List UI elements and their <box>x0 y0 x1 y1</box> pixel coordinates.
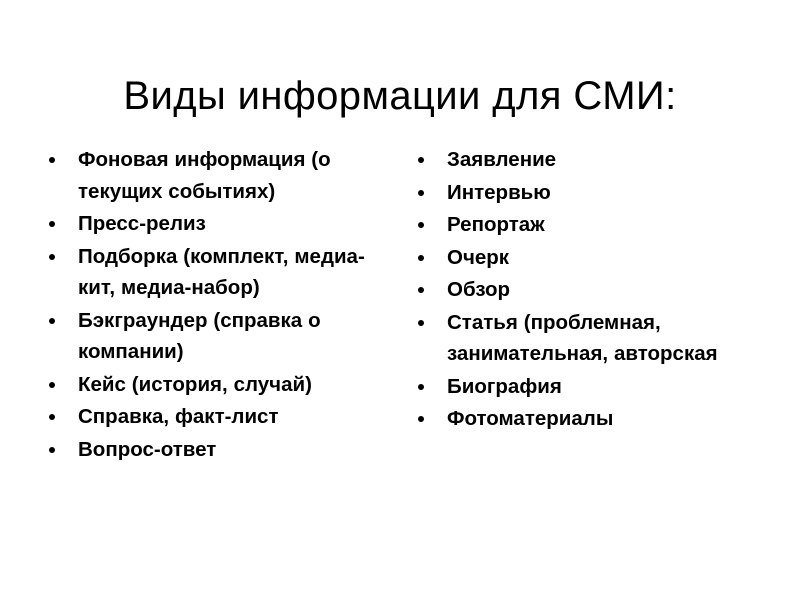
list-item-label: Справка, факт-лист <box>78 401 394 433</box>
bullet-column-right: Заявление Интервью Репортаж Очерк Обзор <box>410 144 770 436</box>
list-item: Фотоматериалы <box>410 403 770 435</box>
bullet-list-left: Фоновая информация (о текущих событиях) … <box>42 144 394 465</box>
list-item: Статья (проблемная, занимательная, автор… <box>410 307 770 370</box>
bullet-dot-icon <box>49 157 55 163</box>
list-item: Бэкграундер (справка о компании) <box>42 305 394 368</box>
bullet-dot-icon <box>49 221 55 227</box>
list-item: Кейс (история, случай) <box>42 369 394 401</box>
bullet-dot-icon <box>49 254 55 260</box>
bullet-dot-icon <box>418 190 424 196</box>
content-columns: Фоновая информация (о текущих событиях) … <box>0 144 800 524</box>
bullet-dot-icon <box>418 157 424 163</box>
bullet-dot-icon <box>418 222 424 228</box>
list-item: Справка, факт-лист <box>42 401 394 433</box>
list-item-label: Интервью <box>447 177 770 209</box>
bullet-dot-icon <box>418 384 424 390</box>
list-item-label: Вопрос-ответ <box>78 434 394 466</box>
bullet-dot-icon <box>418 320 424 326</box>
bullet-dot-icon <box>49 447 55 453</box>
page-title: Виды информации для СМИ: <box>0 73 800 119</box>
list-item-label: Биография <box>447 371 770 403</box>
list-item: Фоновая информация (о текущих событиях) <box>42 144 394 207</box>
list-item: Подборка (комплект, медиа-кит, медиа-наб… <box>42 241 394 304</box>
list-item: Репортаж <box>410 209 770 241</box>
list-item: Вопрос-ответ <box>42 434 394 466</box>
bullet-dot-icon <box>418 416 424 422</box>
list-item: Интервью <box>410 177 770 209</box>
bullet-list-right: Заявление Интервью Репортаж Очерк Обзор <box>410 144 770 435</box>
list-item-label: Заявление <box>447 144 770 176</box>
bullet-dot-icon <box>49 318 55 324</box>
bullet-column-left: Фоновая информация (о текущих событиях) … <box>42 144 394 466</box>
list-item-label: Пресс-релиз <box>78 208 394 240</box>
list-item-label: Бэкграундер (справка о компании) <box>78 305 394 368</box>
list-item-label: Фотоматериалы <box>447 403 770 435</box>
list-item-label: Статья (проблемная, занимательная, автор… <box>447 307 770 370</box>
bullet-dot-icon <box>49 382 55 388</box>
list-item: Заявление <box>410 144 770 176</box>
list-item: Обзор <box>410 274 770 306</box>
list-item-label: Репортаж <box>447 209 770 241</box>
list-item-label: Очерк <box>447 242 770 274</box>
list-item-label: Обзор <box>447 274 770 306</box>
list-item-label: Фоновая информация (о текущих событиях) <box>78 144 394 207</box>
bullet-dot-icon <box>418 287 424 293</box>
list-item: Очерк <box>410 242 770 274</box>
list-item: Биография <box>410 371 770 403</box>
list-item: Пресс-релиз <box>42 208 394 240</box>
list-item-label: Кейс (история, случай) <box>78 369 394 401</box>
slide: Виды информации для СМИ: Фоновая информа… <box>0 0 800 600</box>
bullet-dot-icon <box>49 414 55 420</box>
list-item-label: Подборка (комплект, медиа-кит, медиа-наб… <box>78 241 394 304</box>
bullet-dot-icon <box>418 255 424 261</box>
